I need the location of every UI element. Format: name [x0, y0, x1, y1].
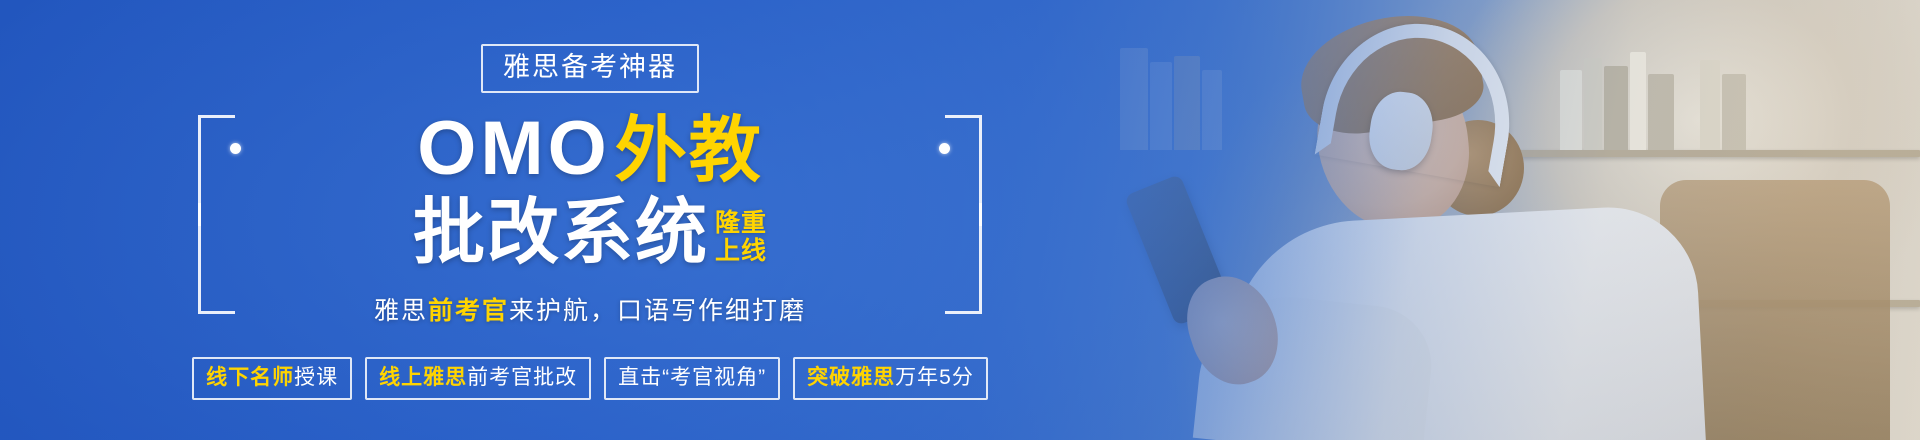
feature-tag[interactable]: 直击“考官视角”	[604, 357, 780, 400]
subtitle: 雅思前考官来护航，口语写作细打磨	[374, 291, 806, 327]
feature-tag-list: 线下名师授课 线上雅思前考官批改 直击“考官视角” 突破雅思万年5分	[192, 357, 988, 400]
subtitle-prefix: 雅思	[374, 297, 428, 325]
feature-tag-highlight: 线下名师	[206, 366, 294, 389]
launch-badge-bottom: 上线	[715, 237, 767, 265]
feature-tag[interactable]: 线下名师授课	[192, 357, 352, 400]
launch-badge-top: 隆重	[715, 209, 767, 237]
feature-tag[interactable]: 线上雅思前考官批改	[365, 357, 591, 400]
bracket-bottom-right	[945, 203, 982, 314]
feature-tag-rest: 前考官批改	[467, 366, 577, 389]
feature-tag-rest: 万年5分	[895, 366, 974, 389]
banner-content: 雅思备考神器 OMO 外教 批改系统 隆重 上线 雅思前考官来护航，口语写作细打…	[0, 0, 1180, 440]
subtitle-suffix: 来护航，口语写作细打磨	[509, 297, 806, 325]
feature-tag-rest: 直击“考官视角”	[618, 366, 766, 389]
promo-banner: 雅思备考神器 OMO 外教 批改系统 隆重 上线 雅思前考官来护航，口语写作细打…	[0, 0, 1920, 440]
feature-tag-rest: 授课	[294, 366, 338, 389]
headline-block: OMO 外教 批改系统 隆重 上线	[260, 111, 920, 269]
headline-line-2: 批改系统 隆重 上线	[260, 197, 920, 269]
headline-waijiao: 外教	[615, 115, 763, 187]
headline-omo: OMO	[417, 111, 611, 187]
feature-tag-highlight: 突破雅思	[807, 366, 895, 389]
subtitle-highlight: 前考官	[428, 297, 509, 325]
dot-right-icon	[939, 143, 950, 154]
headline-system: 批改系统	[413, 197, 709, 269]
launch-badge: 隆重 上线	[715, 209, 767, 265]
eyebrow-label: 雅思备考神器	[481, 44, 699, 93]
dot-left-icon	[230, 143, 241, 154]
headline-line-1: OMO 外教	[260, 111, 920, 187]
feature-tag[interactable]: 突破雅思万年5分	[793, 357, 988, 400]
bracket-bottom-left	[198, 203, 235, 314]
feature-tag-highlight: 线上雅思	[379, 366, 467, 389]
